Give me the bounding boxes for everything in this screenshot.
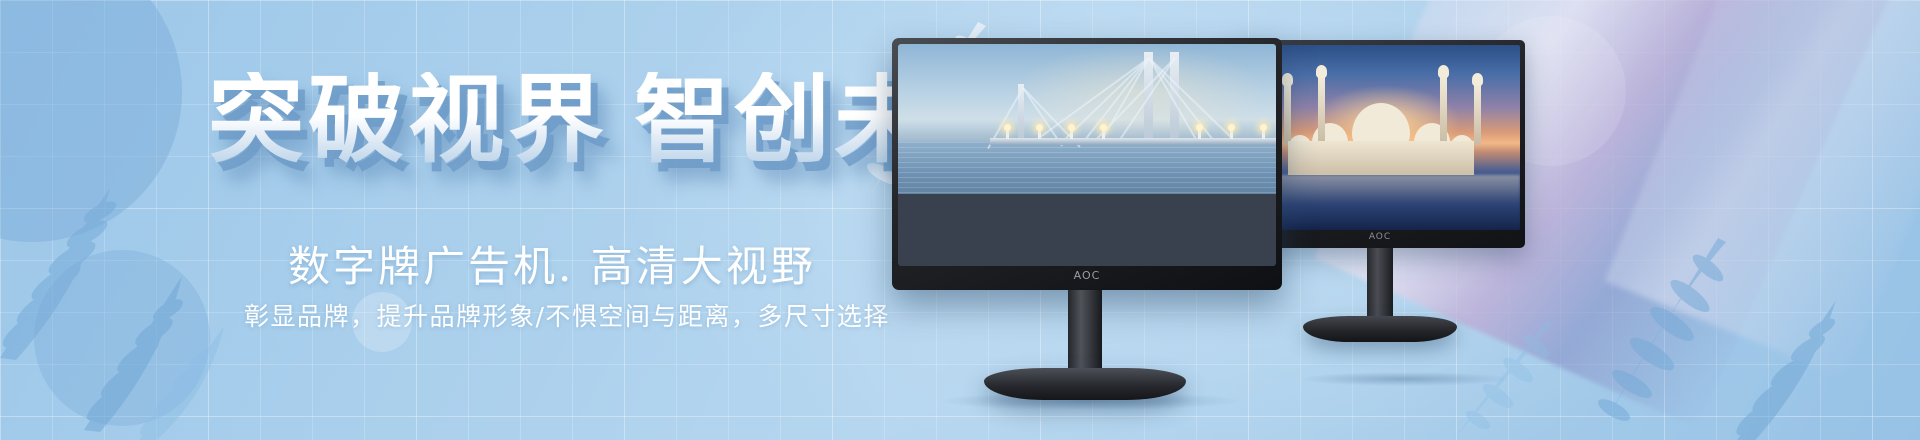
bridge-lamp bbox=[1006, 128, 1009, 139]
product-images: AOC bbox=[880, 0, 1920, 440]
bridge-lamp bbox=[1070, 128, 1073, 139]
promo-banner: 突破视界智创未来 数字牌广告机. 高清大视野 彰显品牌，提升品牌形象/不惧空间与… bbox=[0, 0, 1920, 440]
bridge-lamp bbox=[1102, 128, 1105, 139]
bridge-lamp bbox=[1198, 128, 1201, 139]
bridge-cable bbox=[1148, 57, 1216, 143]
copy-block: 突破视界智创未来 数字牌广告机. 高清大视野 彰显品牌，提升品牌形象/不惧空间与… bbox=[0, 0, 940, 440]
mosque-minaret-2 bbox=[1318, 75, 1325, 145]
bridge-lamp bbox=[1038, 128, 1041, 139]
bridge-lamp bbox=[1230, 128, 1233, 139]
headline-part-1: 突破视界 bbox=[208, 64, 608, 176]
monitor-front-stand-base bbox=[984, 368, 1186, 400]
monitor-back-shadow bbox=[1300, 372, 1510, 386]
bridge-lamp bbox=[1262, 128, 1265, 139]
monitor-back-logo: AOC bbox=[1369, 232, 1391, 242]
mosque-minaret-4 bbox=[1474, 83, 1481, 145]
monitor-back-stand-base bbox=[1303, 316, 1457, 342]
mosque-minaret-1 bbox=[1284, 83, 1291, 145]
bridge-rocky-shore bbox=[898, 194, 1276, 266]
tagline: 彰显品牌，提升品牌形象/不惧空间与距离，多尺寸选择 bbox=[244, 302, 890, 332]
monitor-back-screen bbox=[1240, 45, 1520, 230]
monitor-front-screen bbox=[898, 44, 1276, 266]
bridge-deck bbox=[990, 138, 1276, 145]
subtitle: 数字牌广告机. 高清大视野 bbox=[288, 244, 816, 290]
mosque-facade bbox=[1288, 141, 1474, 175]
monitor-front: AOC bbox=[892, 38, 1282, 396]
monitor-front-logo: AOC bbox=[1074, 269, 1101, 282]
monitor-back-stand-neck bbox=[1367, 248, 1393, 322]
mosque-minaret-3 bbox=[1440, 75, 1447, 145]
monitor-front-stand-neck bbox=[1068, 290, 1102, 376]
mosque-water-reflection bbox=[1240, 175, 1520, 230]
